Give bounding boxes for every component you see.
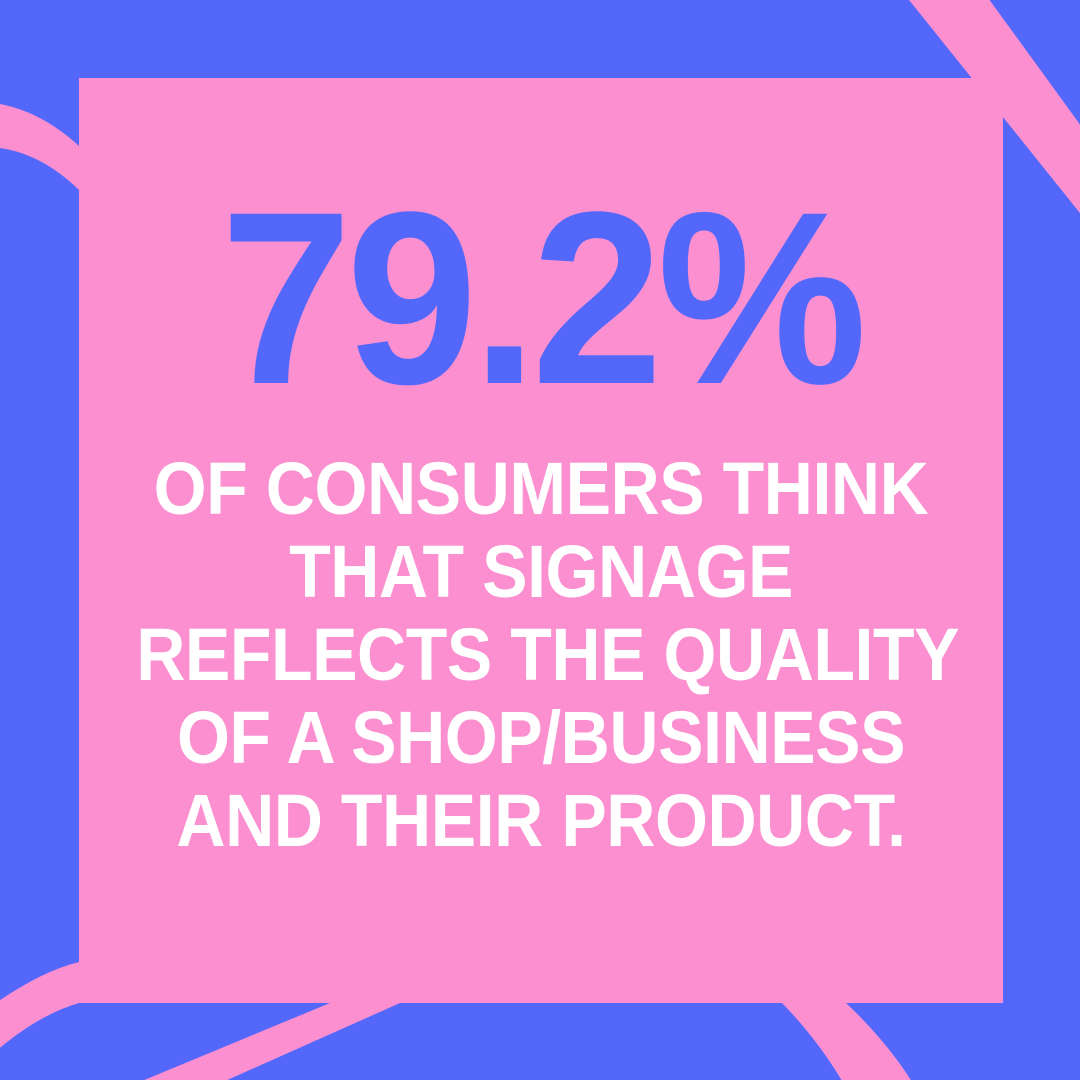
statistic-caption: OF CONSUMERS THINK THAT SIGNAGE REFLECTS…: [136, 448, 946, 862]
caption-line-4: OF A SHOP/BUSINESS: [136, 697, 946, 780]
caption-line-1: OF CONSUMERS THINK: [136, 448, 946, 531]
caption-line-5: AND THEIR PRODUCT.: [136, 780, 946, 863]
caption-line-3: REFLECTS THE QUALITY: [136, 614, 946, 697]
statistic-card: 79.2% OF CONSUMERS THINK THAT SIGNAGE RE…: [79, 78, 1003, 1003]
statistic-value: 79.2%: [97, 186, 984, 412]
caption-line-2: THAT SIGNAGE: [136, 531, 946, 614]
pink-band-top-left-icon: [0, 104, 79, 190]
pink-diagonal-bottom-center-icon: [72, 1003, 400, 1080]
pink-curve-bottom-left-icon: [0, 962, 79, 1060]
pink-curve-bottom-right-icon: [782, 1003, 928, 1080]
statistic-poster: 79.2% OF CONSUMERS THINK THAT SIGNAGE RE…: [0, 0, 1080, 1080]
